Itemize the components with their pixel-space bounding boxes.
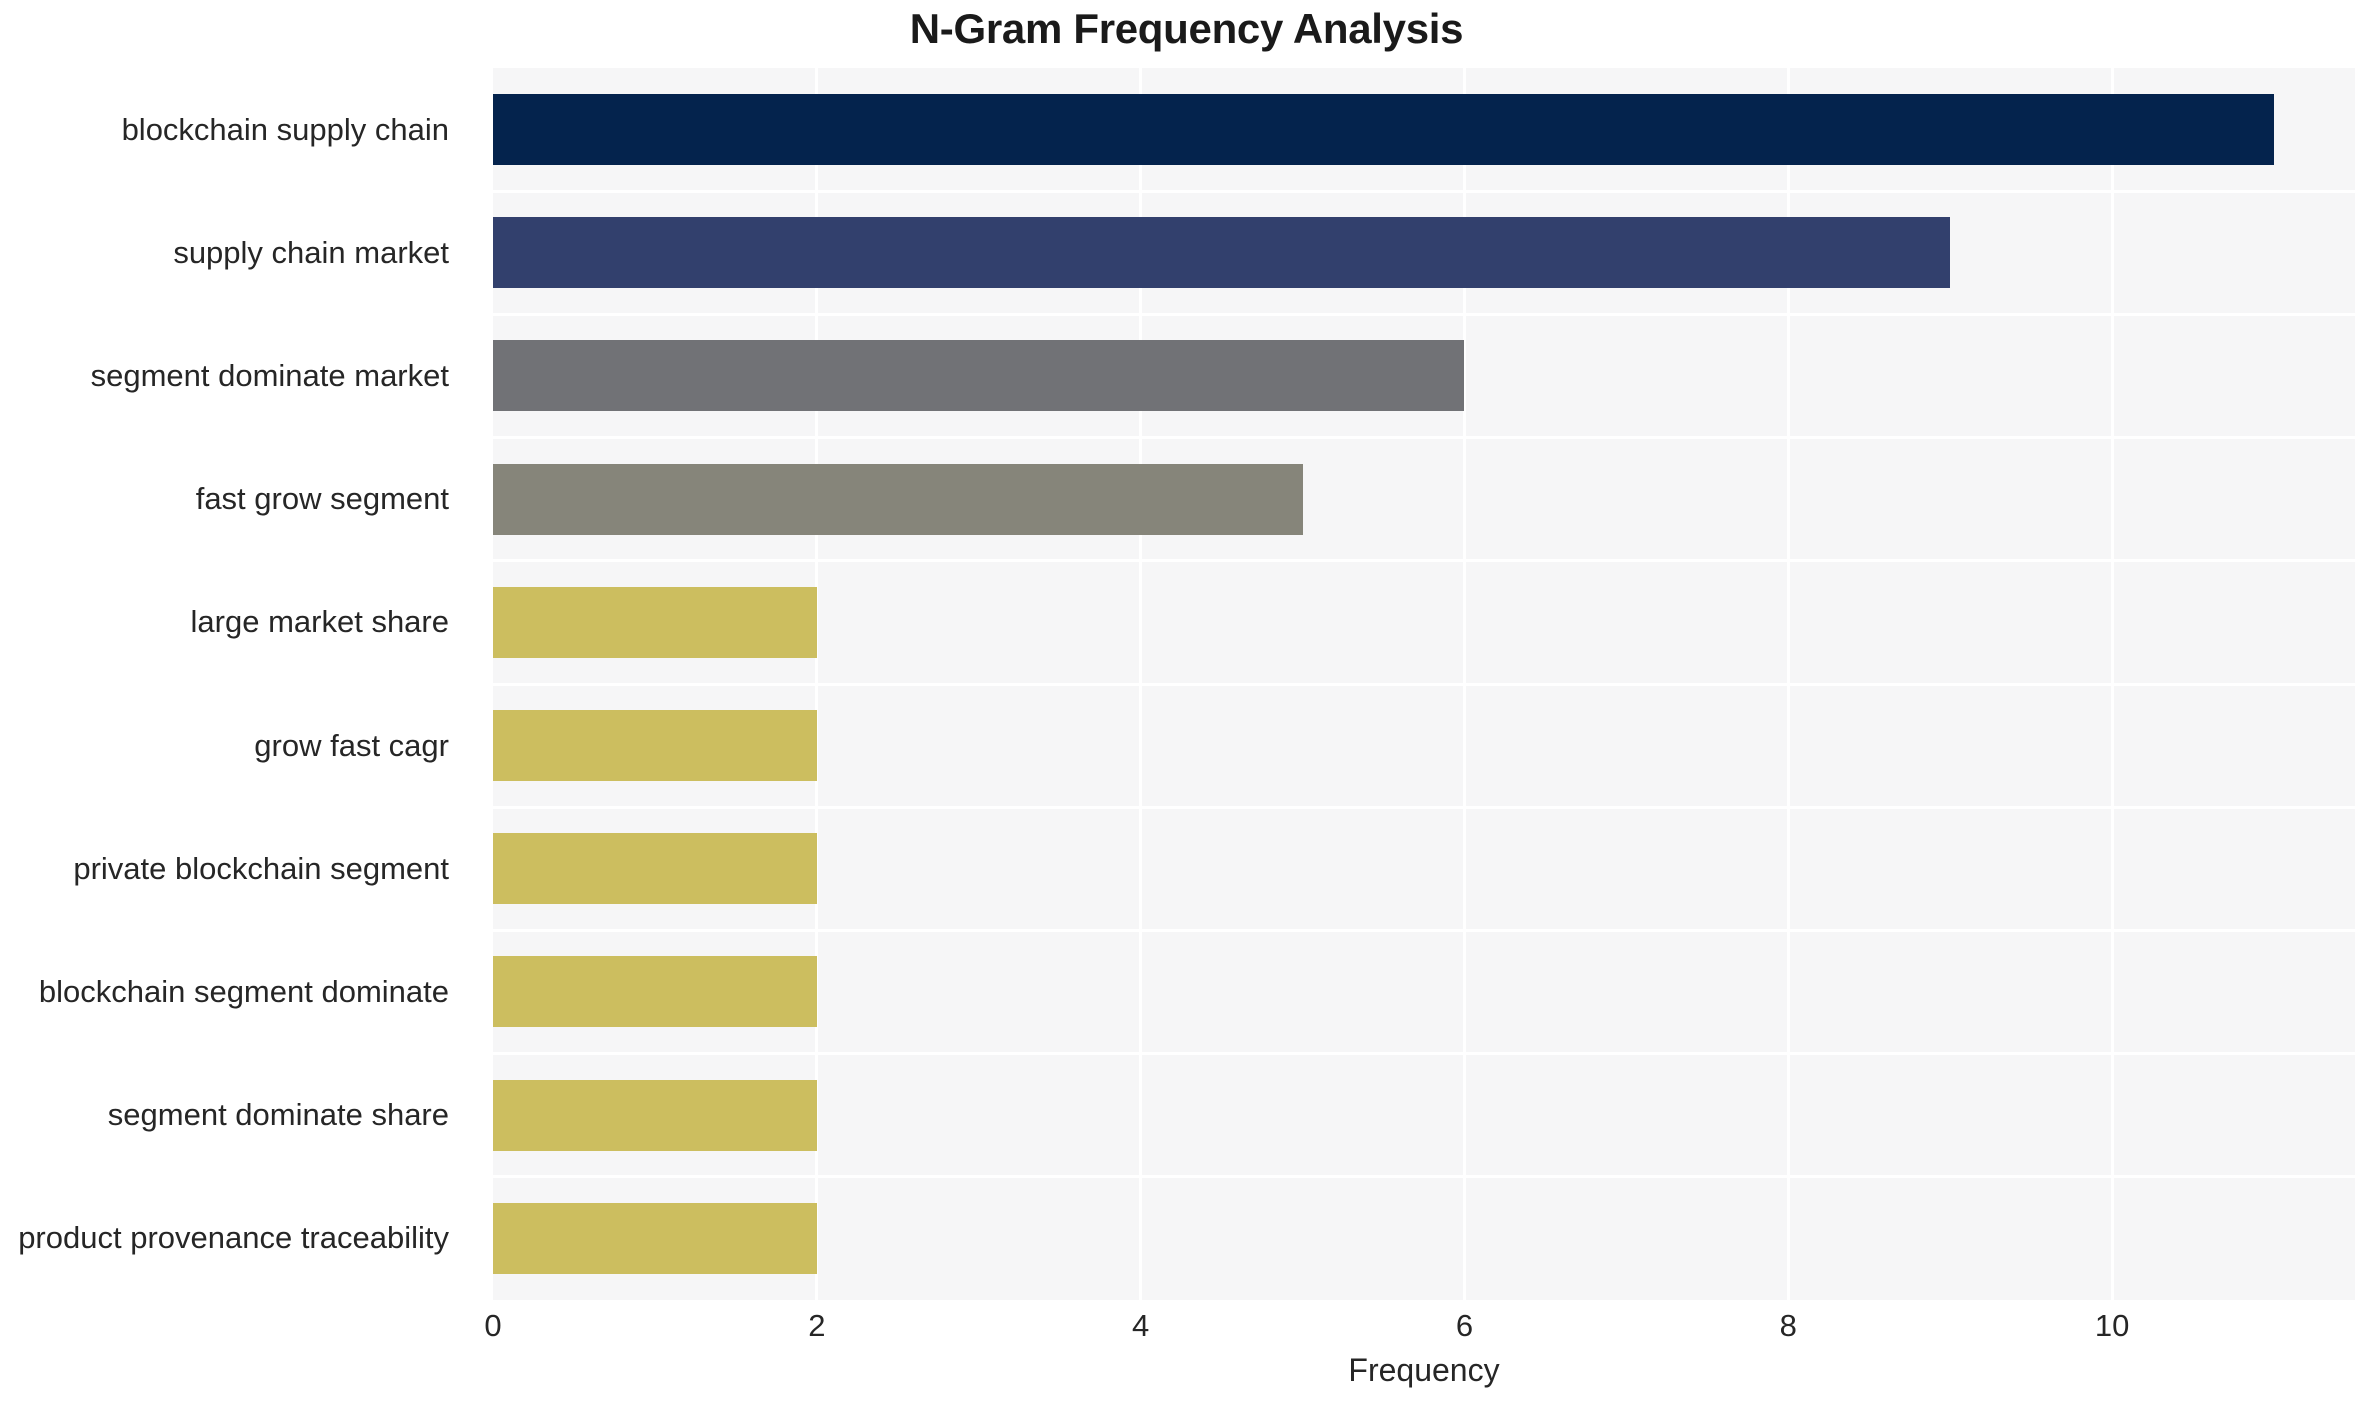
x-tick-label: 6 — [1456, 1310, 1473, 1341]
bar[interactable] — [493, 833, 817, 904]
y-tick-label: fast grow segment — [0, 483, 471, 514]
bar[interactable] — [493, 710, 817, 781]
bar-band — [493, 684, 2355, 807]
x-tick-label: 0 — [484, 1310, 501, 1341]
bar[interactable] — [493, 1080, 817, 1151]
x-tick-label: 10 — [2095, 1310, 2129, 1341]
bar[interactable] — [493, 94, 2274, 165]
y-tick-label: grow fast cagr — [0, 730, 471, 761]
bar[interactable] — [493, 340, 1464, 411]
x-tick-label: 2 — [808, 1310, 825, 1341]
plot-area — [493, 68, 2355, 1300]
bar-band — [493, 68, 2355, 191]
x-tick-label: 8 — [1780, 1310, 1797, 1341]
y-tick-label: private blockchain segment — [0, 853, 471, 884]
bar[interactable] — [493, 587, 817, 658]
x-axis: 0246810 — [493, 1300, 2355, 1360]
bar[interactable] — [493, 956, 817, 1027]
chart-figure: N-Gram Frequency Analysis blockchain sup… — [0, 0, 2373, 1402]
y-tick-label: large market share — [0, 606, 471, 637]
bar-band — [493, 1054, 2355, 1177]
bar[interactable] — [493, 464, 1303, 535]
bar[interactable] — [493, 217, 1950, 288]
bar-band — [493, 807, 2355, 930]
bar[interactable] — [493, 1203, 817, 1274]
x-axis-title: Frequency — [493, 1352, 2355, 1389]
y-tick-label: segment dominate market — [0, 360, 471, 391]
y-tick-label: segment dominate share — [0, 1099, 471, 1130]
y-tick-label: blockchain segment dominate — [0, 976, 471, 1007]
y-tick-label: supply chain market — [0, 237, 471, 268]
bar-band — [493, 930, 2355, 1053]
x-tick-label: 4 — [1132, 1310, 1149, 1341]
bar-band — [493, 561, 2355, 684]
bar-band — [493, 1177, 2355, 1300]
y-tick-label: blockchain supply chain — [0, 114, 471, 145]
bar-band — [493, 314, 2355, 437]
bar-band — [493, 191, 2355, 314]
bar-band — [493, 438, 2355, 561]
y-tick-label: product provenance traceability — [0, 1222, 471, 1253]
page-title: N-Gram Frequency Analysis — [0, 5, 2373, 53]
y-axis: blockchain supply chainsupply chain mark… — [0, 68, 471, 1300]
